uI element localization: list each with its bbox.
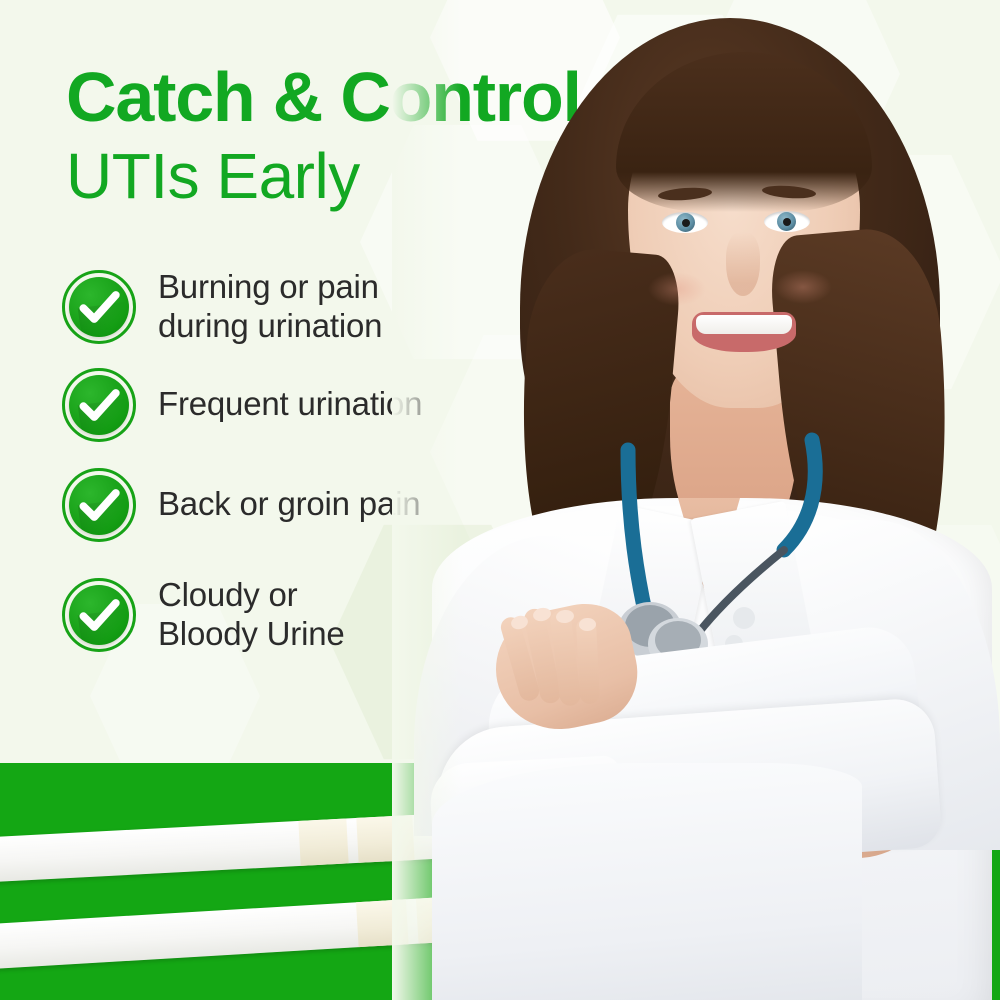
cheek xyxy=(648,272,706,306)
check-circle-icon xyxy=(62,368,136,442)
mouth xyxy=(692,312,796,352)
cheek xyxy=(774,270,832,304)
lab-coat-over-band xyxy=(432,763,862,1000)
check-circle-icon xyxy=(62,468,136,542)
nose xyxy=(726,232,760,296)
symptom-label: Burning or pain during urination xyxy=(158,268,382,346)
check-circle-icon xyxy=(62,270,136,344)
uti-awareness-poster: Catch & Control UTIs Early Burning or pa… xyxy=(0,0,1000,1000)
symptom-label: Back or groin pain xyxy=(158,485,420,524)
pupil xyxy=(682,219,690,227)
check-circle-icon xyxy=(62,578,136,652)
reagent-pad xyxy=(298,818,348,865)
pupil xyxy=(783,218,791,226)
symptom-label: Cloudy or Bloody Urine xyxy=(158,576,345,654)
symptom-label: Frequent urination xyxy=(158,385,422,424)
